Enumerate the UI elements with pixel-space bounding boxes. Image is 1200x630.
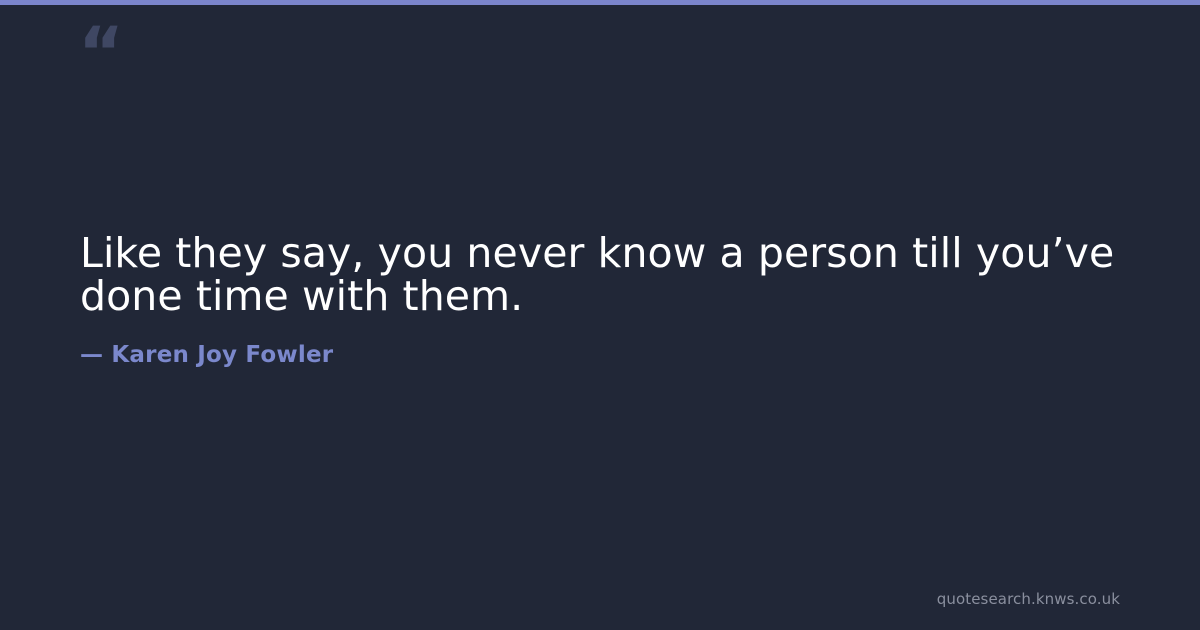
quote-text: Like they say, you never know a person t… [80, 232, 1140, 317]
open-quote-icon: “ [78, 18, 123, 88]
site-watermark: quotesearch.knws.co.uk [937, 590, 1120, 608]
quote-attribution: — Karen Joy Fowler [80, 317, 1140, 368]
top-accent-bar [0, 0, 1200, 5]
quote-body: Like they say, you never know a person t… [80, 232, 1140, 369]
quote-card: “ Like they say, you never know a person… [0, 0, 1200, 630]
